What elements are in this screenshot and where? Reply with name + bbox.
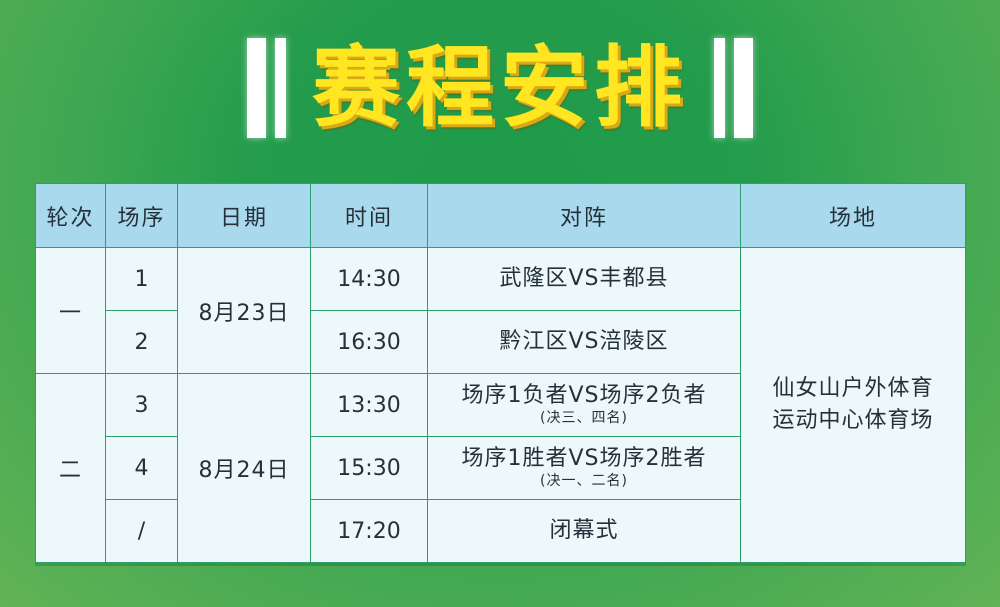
decoration-bar-icon <box>275 38 286 138</box>
column-header-time: 时间 <box>311 184 428 248</box>
cell-round: 一 <box>36 248 106 374</box>
decoration-bar-icon <box>714 38 725 138</box>
column-header-order: 场序 <box>106 184 178 248</box>
cell-order: / <box>106 500 178 563</box>
cell-round: 二 <box>36 374 106 563</box>
match-main-text: 黔江区VS涪陵区 <box>432 329 736 355</box>
cell-time: 15:30 <box>311 437 428 500</box>
cell-order: 4 <box>106 437 178 500</box>
match-sub-text: (决三、四名) <box>432 410 736 427</box>
column-header-venue: 场地 <box>741 184 966 248</box>
match-main-text: 武隆区VS丰都县 <box>432 266 736 292</box>
match-sub-text: (决一、二名) <box>432 473 736 490</box>
cell-order: 3 <box>106 374 178 437</box>
title-block: 赛程安排 <box>0 24 1000 152</box>
match-main-text: 闭幕式 <box>432 518 736 544</box>
cell-date: 8月24日 <box>178 374 311 563</box>
column-header-round: 轮次 <box>36 184 106 248</box>
table-header: 轮次 场序 日期 时间 对阵 场地 <box>36 184 966 248</box>
cell-time: 17:20 <box>311 500 428 563</box>
title-decoration-left <box>247 38 286 138</box>
decoration-bar-icon <box>734 38 753 138</box>
column-header-match: 对阵 <box>428 184 741 248</box>
match-main-text: 场序1胜者VS场序2胜者 <box>432 446 736 472</box>
table-row: 一 1 8月23日 14:30 武隆区VS丰都县 仙女山户外体育 运动中心体育场 <box>36 248 966 311</box>
cell-match: 场序1负者VS场序2负者 (决三、四名) <box>428 374 741 437</box>
cell-time: 16:30 <box>311 311 428 374</box>
venue-line-1: 仙女山户外体育 <box>753 373 953 405</box>
match-main-text: 场序1负者VS场序2负者 <box>432 383 736 409</box>
venue-line-2: 运动中心体育场 <box>753 405 953 437</box>
page-title: 赛程安排 <box>312 44 688 132</box>
schedule-table: 轮次 场序 日期 时间 对阵 场地 一 1 8月23日 14:30 武隆区VS丰… <box>35 183 966 563</box>
decoration-bar-icon <box>247 38 266 138</box>
cell-time: 13:30 <box>311 374 428 437</box>
cell-order: 1 <box>106 248 178 311</box>
title-decoration-right <box>714 38 753 138</box>
poster-background: 赛程安排 轮次 场序 日期 时间 对阵 场地 一 <box>0 0 1000 607</box>
cell-match: 武隆区VS丰都县 <box>428 248 741 311</box>
cell-order: 2 <box>106 311 178 374</box>
table-body: 一 1 8月23日 14:30 武隆区VS丰都县 仙女山户外体育 运动中心体育场… <box>36 248 966 563</box>
cell-match: 黔江区VS涪陵区 <box>428 311 741 374</box>
cell-date: 8月23日 <box>178 248 311 374</box>
table-header-row: 轮次 场序 日期 时间 对阵 场地 <box>36 184 966 248</box>
cell-match: 场序1胜者VS场序2胜者 (决一、二名) <box>428 437 741 500</box>
cell-match: 闭幕式 <box>428 500 741 563</box>
cell-time: 14:30 <box>311 248 428 311</box>
column-header-date: 日期 <box>178 184 311 248</box>
cell-venue: 仙女山户外体育 运动中心体育场 <box>741 248 966 563</box>
